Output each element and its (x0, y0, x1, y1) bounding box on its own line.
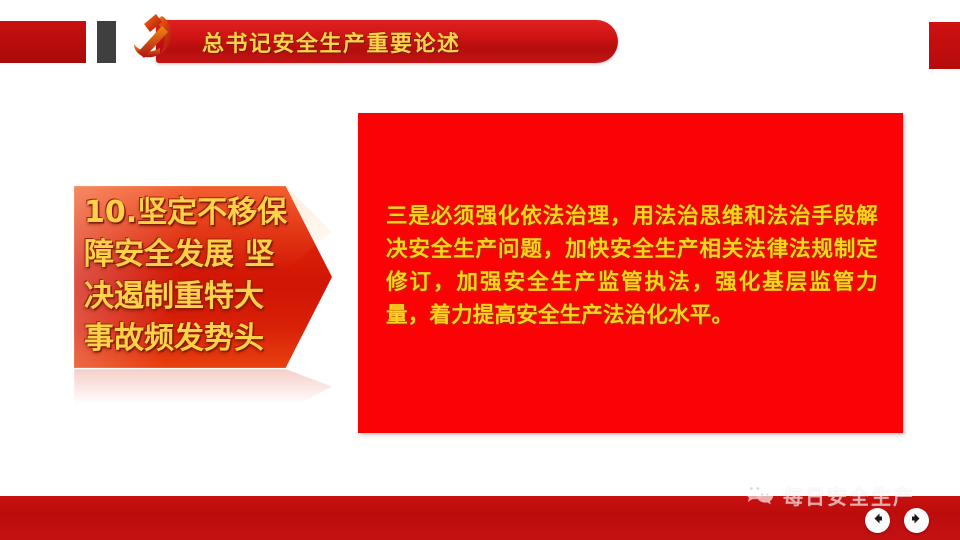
title-banner-reflection (74, 369, 332, 411)
watermark: 每日安全生产 (744, 478, 915, 512)
header-gray-accent-block (97, 21, 116, 63)
header: 总书记安全生产重要论述 (0, 0, 960, 90)
header-title-text: 总书记安全生产重要论述 (202, 26, 461, 58)
arrow-right-icon (909, 511, 924, 530)
slide-canvas: 总书记安全生产重要论述 (0, 0, 960, 540)
navigation-buttons (865, 508, 929, 533)
content-body-text: 三是必须强化依法治理，用法治思维和法治手段解决安全生产问题，加快安全生产相关法律… (386, 200, 878, 332)
section-title-banner: 10.坚定不移保 障安全发展 坚 决遏制重特大 事故频发势头 (74, 186, 332, 368)
content-panel: 三是必须强化依法治理，用法治思维和法治手段解决安全生产问题，加快安全生产相关法律… (358, 113, 903, 433)
arrow-left-icon (870, 511, 885, 530)
section-title-text: 10.坚定不移保 障安全发展 坚 决遏制重特大 事故频发势头 (84, 192, 298, 360)
header-title-banner: 总书记安全生产重要论述 (156, 20, 618, 63)
party-emblem-hammer-sickle-icon (128, 8, 180, 70)
header-right-accent-block (929, 22, 960, 69)
watermark-text: 每日安全生产 (783, 481, 915, 510)
header-red-accent-block (0, 21, 86, 63)
wechat-logo-icon (744, 481, 774, 510)
previous-slide-button[interactable] (865, 508, 890, 533)
next-slide-button[interactable] (904, 508, 929, 533)
